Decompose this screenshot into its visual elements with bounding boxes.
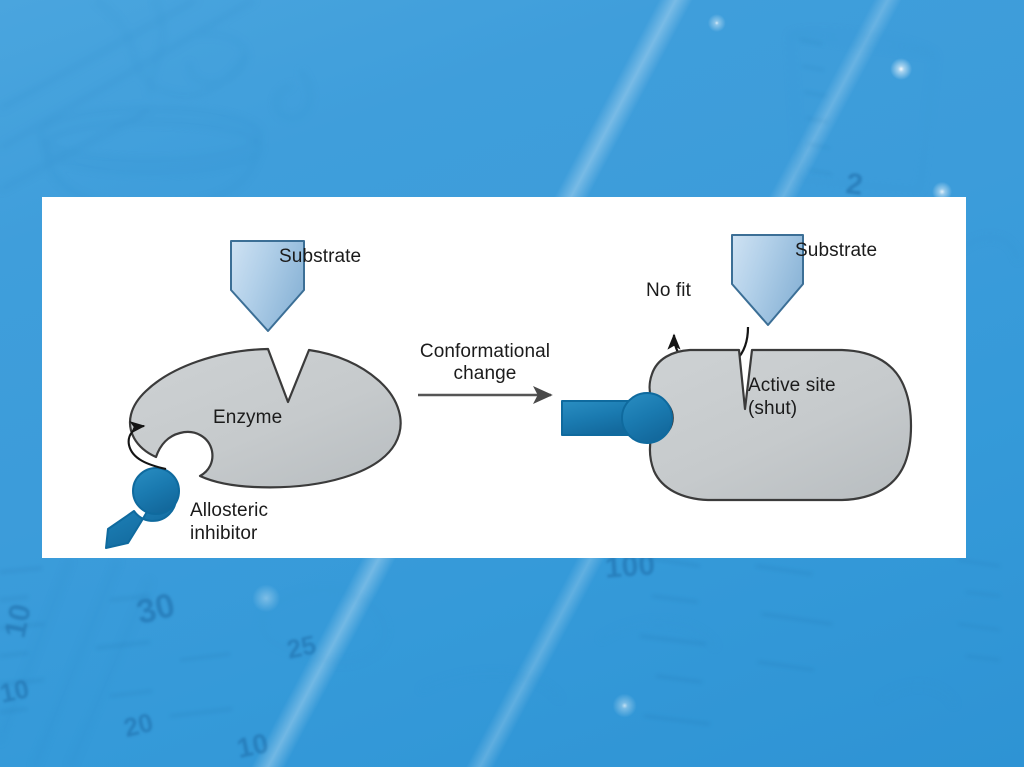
bg-graduation-number: 25	[284, 629, 319, 665]
no-fit-label: No fit	[646, 280, 691, 302]
bg-graduation-number: 10	[234, 727, 271, 765]
allosteric-inhibitor-label-line2: inhibitor	[190, 523, 257, 545]
bg-graduation-number: 10	[0, 601, 39, 641]
allosteric-inhibitor-shape-free	[106, 468, 179, 548]
slide-canvas: 2 100 30 25 10 10 20 10	[0, 0, 1024, 767]
allosteric-inhibitor-label-line1: Allosteric	[190, 500, 268, 522]
conformational-change-label-line1: Conformational	[374, 341, 596, 363]
enzyme-label: Enzyme	[213, 407, 282, 429]
active-site-label-line2-html: (shut)	[748, 398, 797, 420]
substrate-label-right: Substrate	[795, 240, 877, 262]
substrate-shape-right	[732, 235, 803, 325]
allosteric-inhibitor-shape-bound	[562, 393, 672, 443]
diagram-panel: Substrate Enzyme Allosteric inhibitor Co…	[42, 197, 966, 558]
enzyme-shape-shut	[650, 350, 911, 500]
substrate-label-left: Substrate	[279, 246, 361, 268]
active-site-label-line1-html: Active site	[748, 375, 836, 397]
conformational-change-label-line2: change	[374, 363, 596, 385]
